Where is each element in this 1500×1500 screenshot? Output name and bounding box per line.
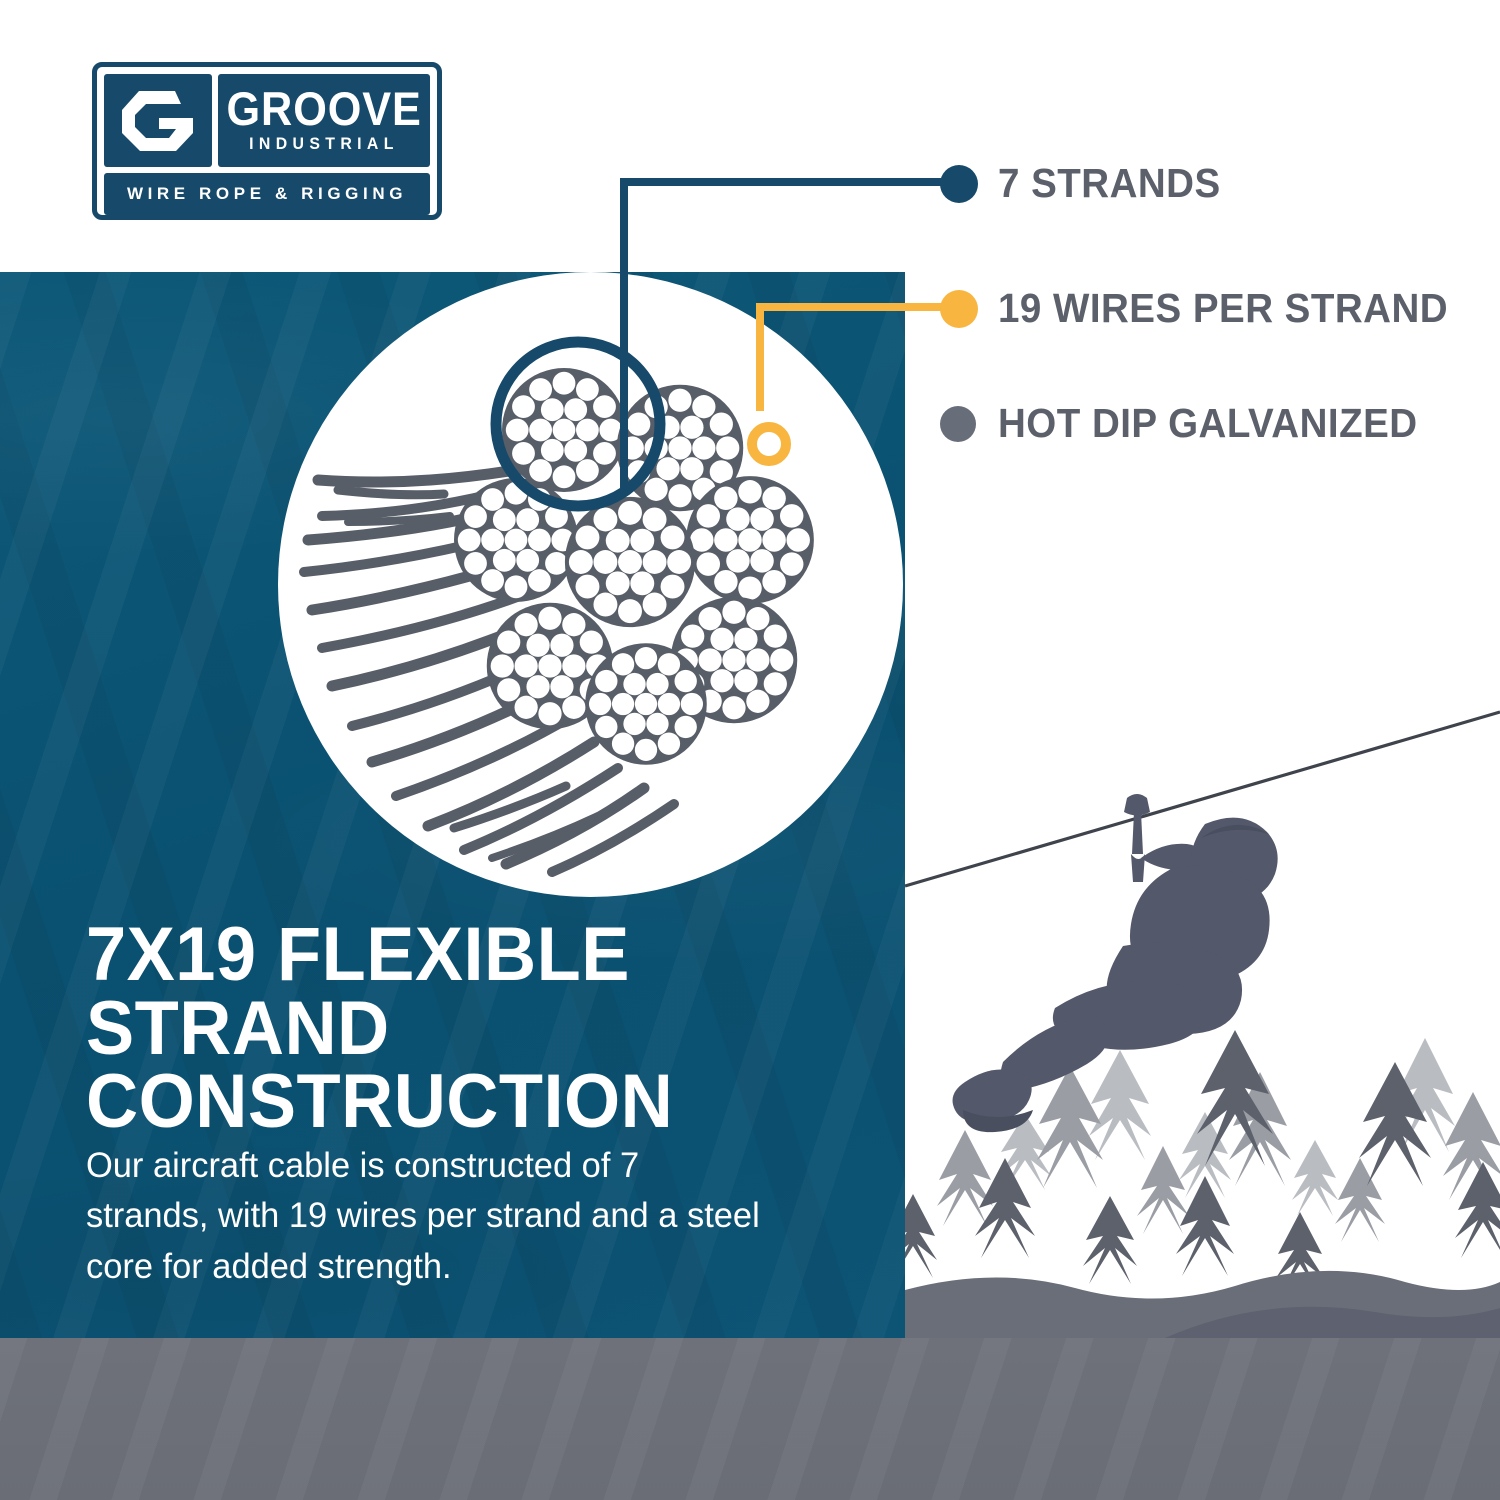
bottom-grey-band xyxy=(0,1338,1500,1500)
g-monogram-icon xyxy=(104,74,212,167)
logo-name-secondary: INDUSTRIAL xyxy=(249,135,399,154)
logo-name-primary: GROOVE xyxy=(226,87,421,131)
infographic-canvas: 7 STRANDS 19 WIRES PER STRAND HOT DIP GA… xyxy=(0,0,1500,1500)
zipline-rider-forest-photo xyxy=(905,690,1500,1338)
callout-label-wires: 19 WIRES PER STRAND xyxy=(998,285,1448,332)
callout-19-wires: 19 WIRES PER STRAND xyxy=(940,285,1477,332)
callout-label-galvanized: HOT DIP GALVANIZED xyxy=(998,400,1418,447)
brand-logo[interactable]: GROOVE INDUSTRIAL WIRE ROPE & RIGGING xyxy=(92,62,442,220)
callout-7-strands: 7 STRANDS xyxy=(940,160,1235,207)
logo-wordmark: GROOVE INDUSTRIAL xyxy=(218,74,430,167)
callout-dot-amber xyxy=(940,290,978,328)
description-text: Our aircraft cable is constructed of 7 s… xyxy=(86,1140,765,1291)
logo-tagline: WIRE ROPE & RIGGING xyxy=(104,173,430,215)
callout-hot-dip-galvanized: HOT DIP GALVANIZED xyxy=(940,400,1444,447)
callout-dot-navy xyxy=(940,165,978,203)
page-title: 7X19 FLEXIBLE STRAND CONSTRUCTION xyxy=(86,918,837,1139)
headline-line-1: 7X19 FLEXIBLE xyxy=(86,912,630,997)
logo-top-row: GROOVE INDUSTRIAL xyxy=(104,74,430,167)
callout-dot-grey xyxy=(940,406,976,442)
callout-label-strands: 7 STRANDS xyxy=(998,160,1221,207)
headline-line-2: STRAND CONSTRUCTION xyxy=(86,992,837,1139)
